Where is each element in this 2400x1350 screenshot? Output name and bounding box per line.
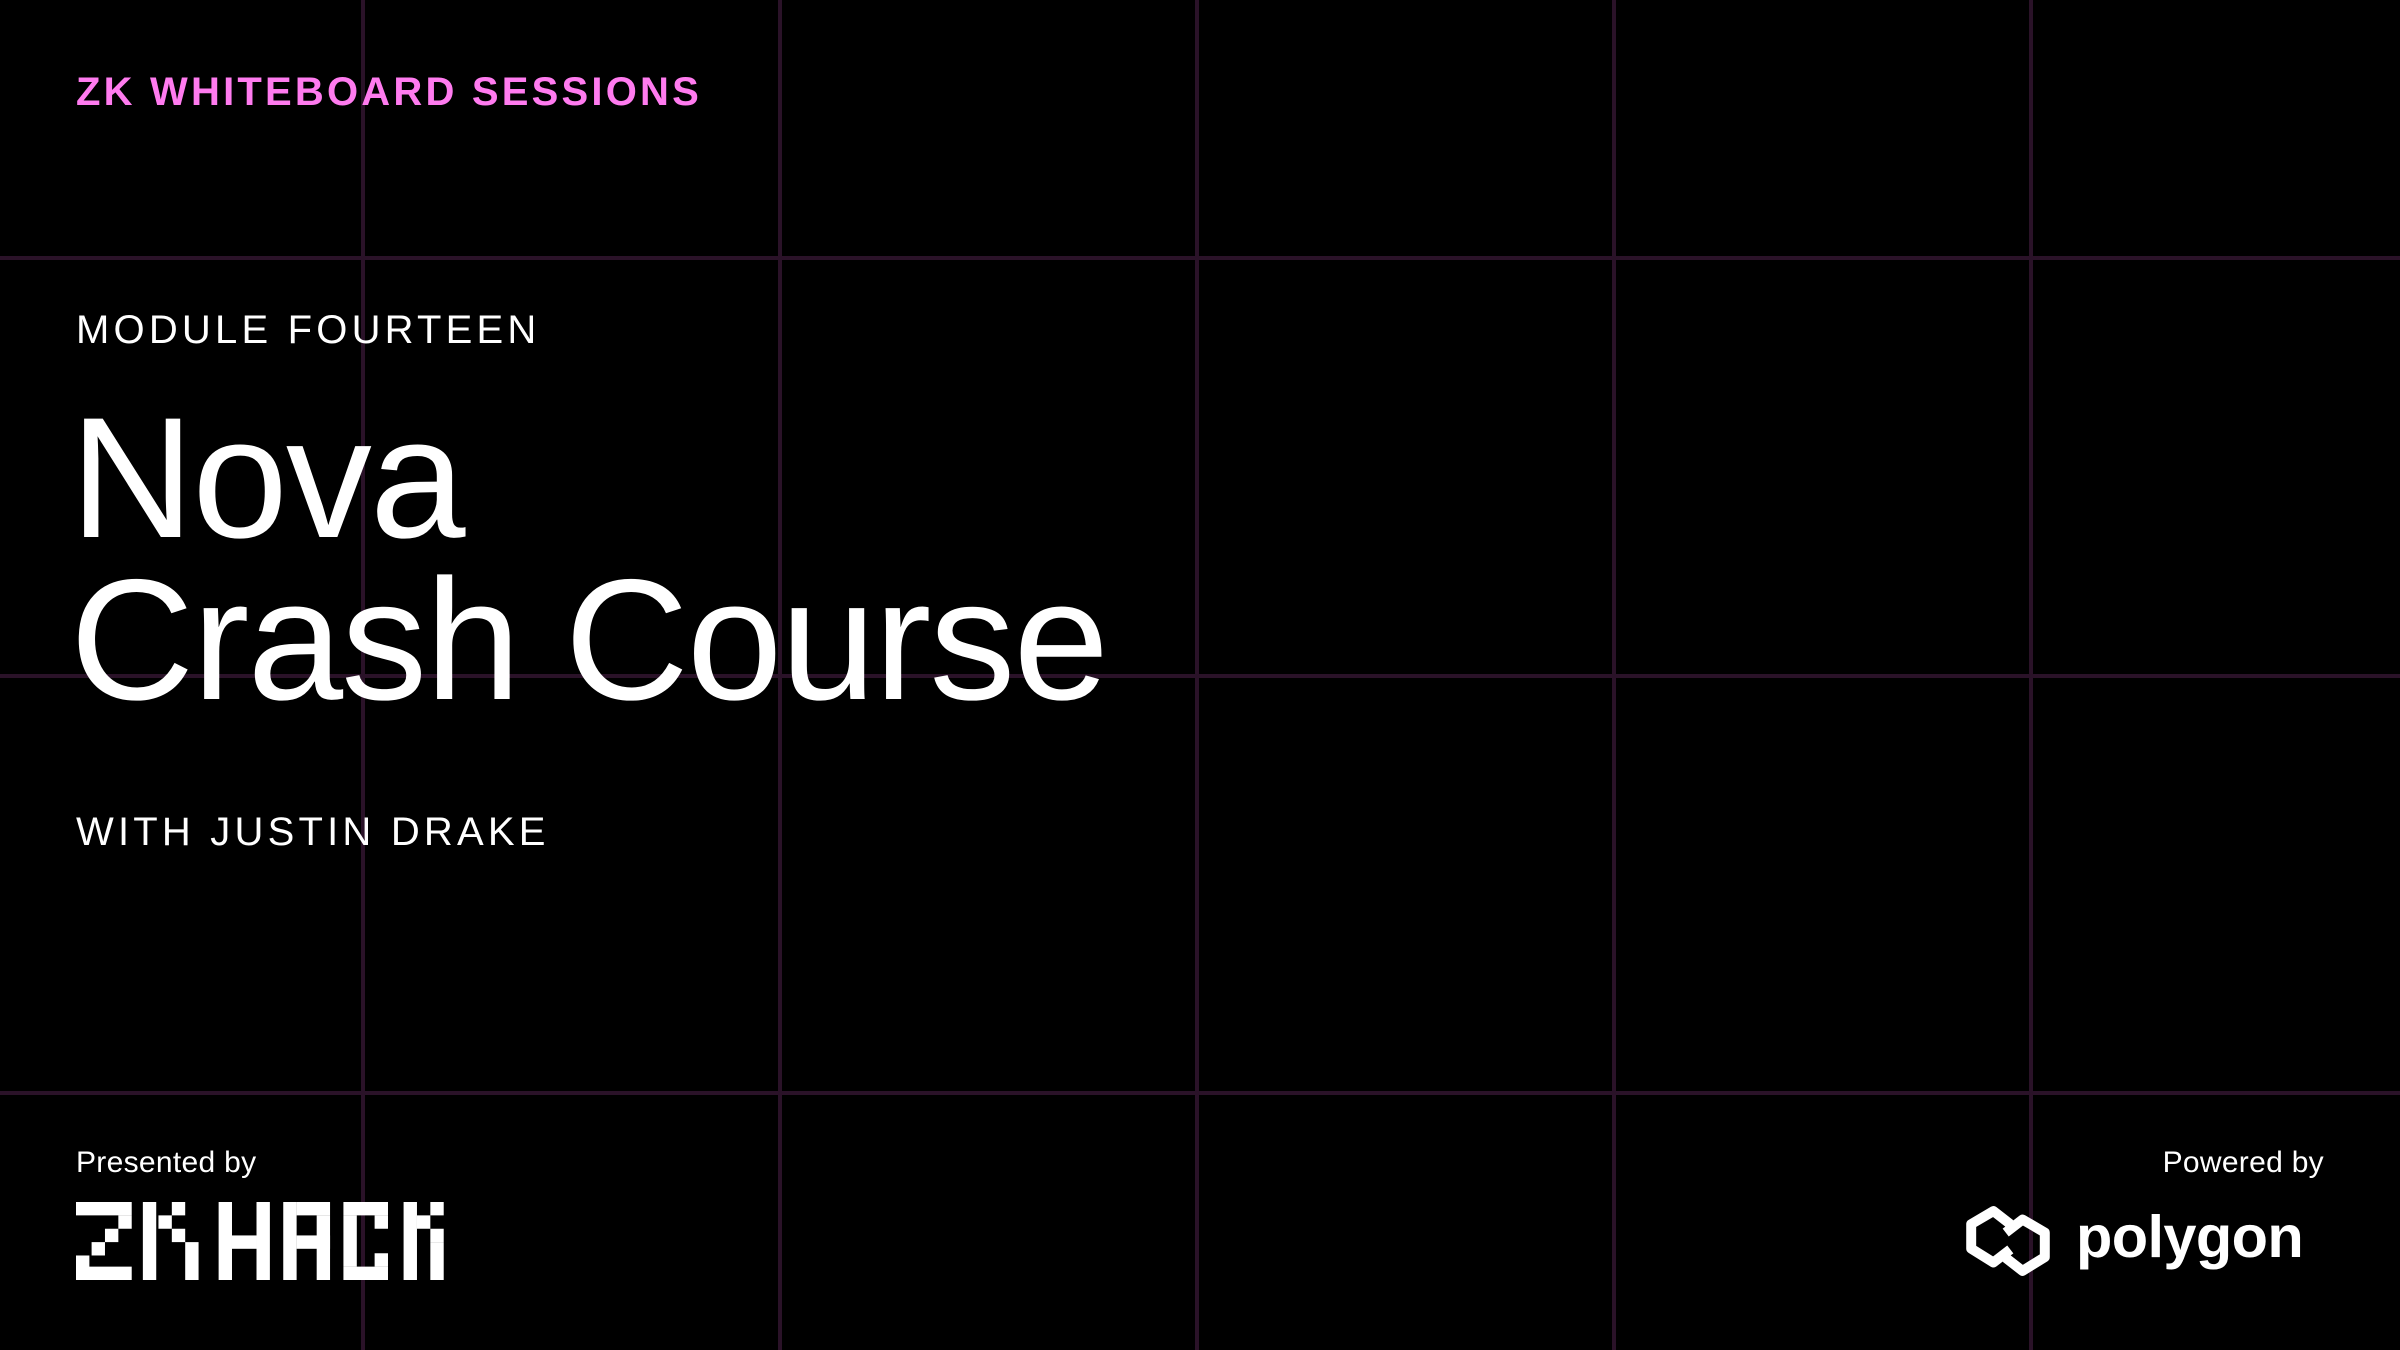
module-label: MODULE FOURTEEN xyxy=(76,310,541,350)
polygon-logo: polygon xyxy=(1962,1202,2324,1280)
series-title: ZK WHITEBOARD SESSIONS xyxy=(76,72,702,112)
powered-by-caption: Powered by xyxy=(1962,1148,2324,1178)
slide-content: ZK WHITEBOARD SESSIONS MODULE FOURTEEN N… xyxy=(0,0,2400,1350)
footer-powered-by: Powered by polygon xyxy=(1962,1148,2324,1280)
presented-by-caption: Presented by xyxy=(76,1148,444,1178)
page-title: Nova Crash Course xyxy=(70,398,1107,721)
polygon-wordmark-text: polygon xyxy=(2076,1210,2324,1272)
svg-text:polygon: polygon xyxy=(2076,1210,2303,1270)
footer-presented-by: Presented by xyxy=(76,1148,444,1280)
polygon-hexagon-icon xyxy=(1962,1202,2054,1280)
presenter-line: WITH JUSTIN DRAKE xyxy=(76,812,550,852)
zk-hack-logo xyxy=(76,1202,444,1280)
